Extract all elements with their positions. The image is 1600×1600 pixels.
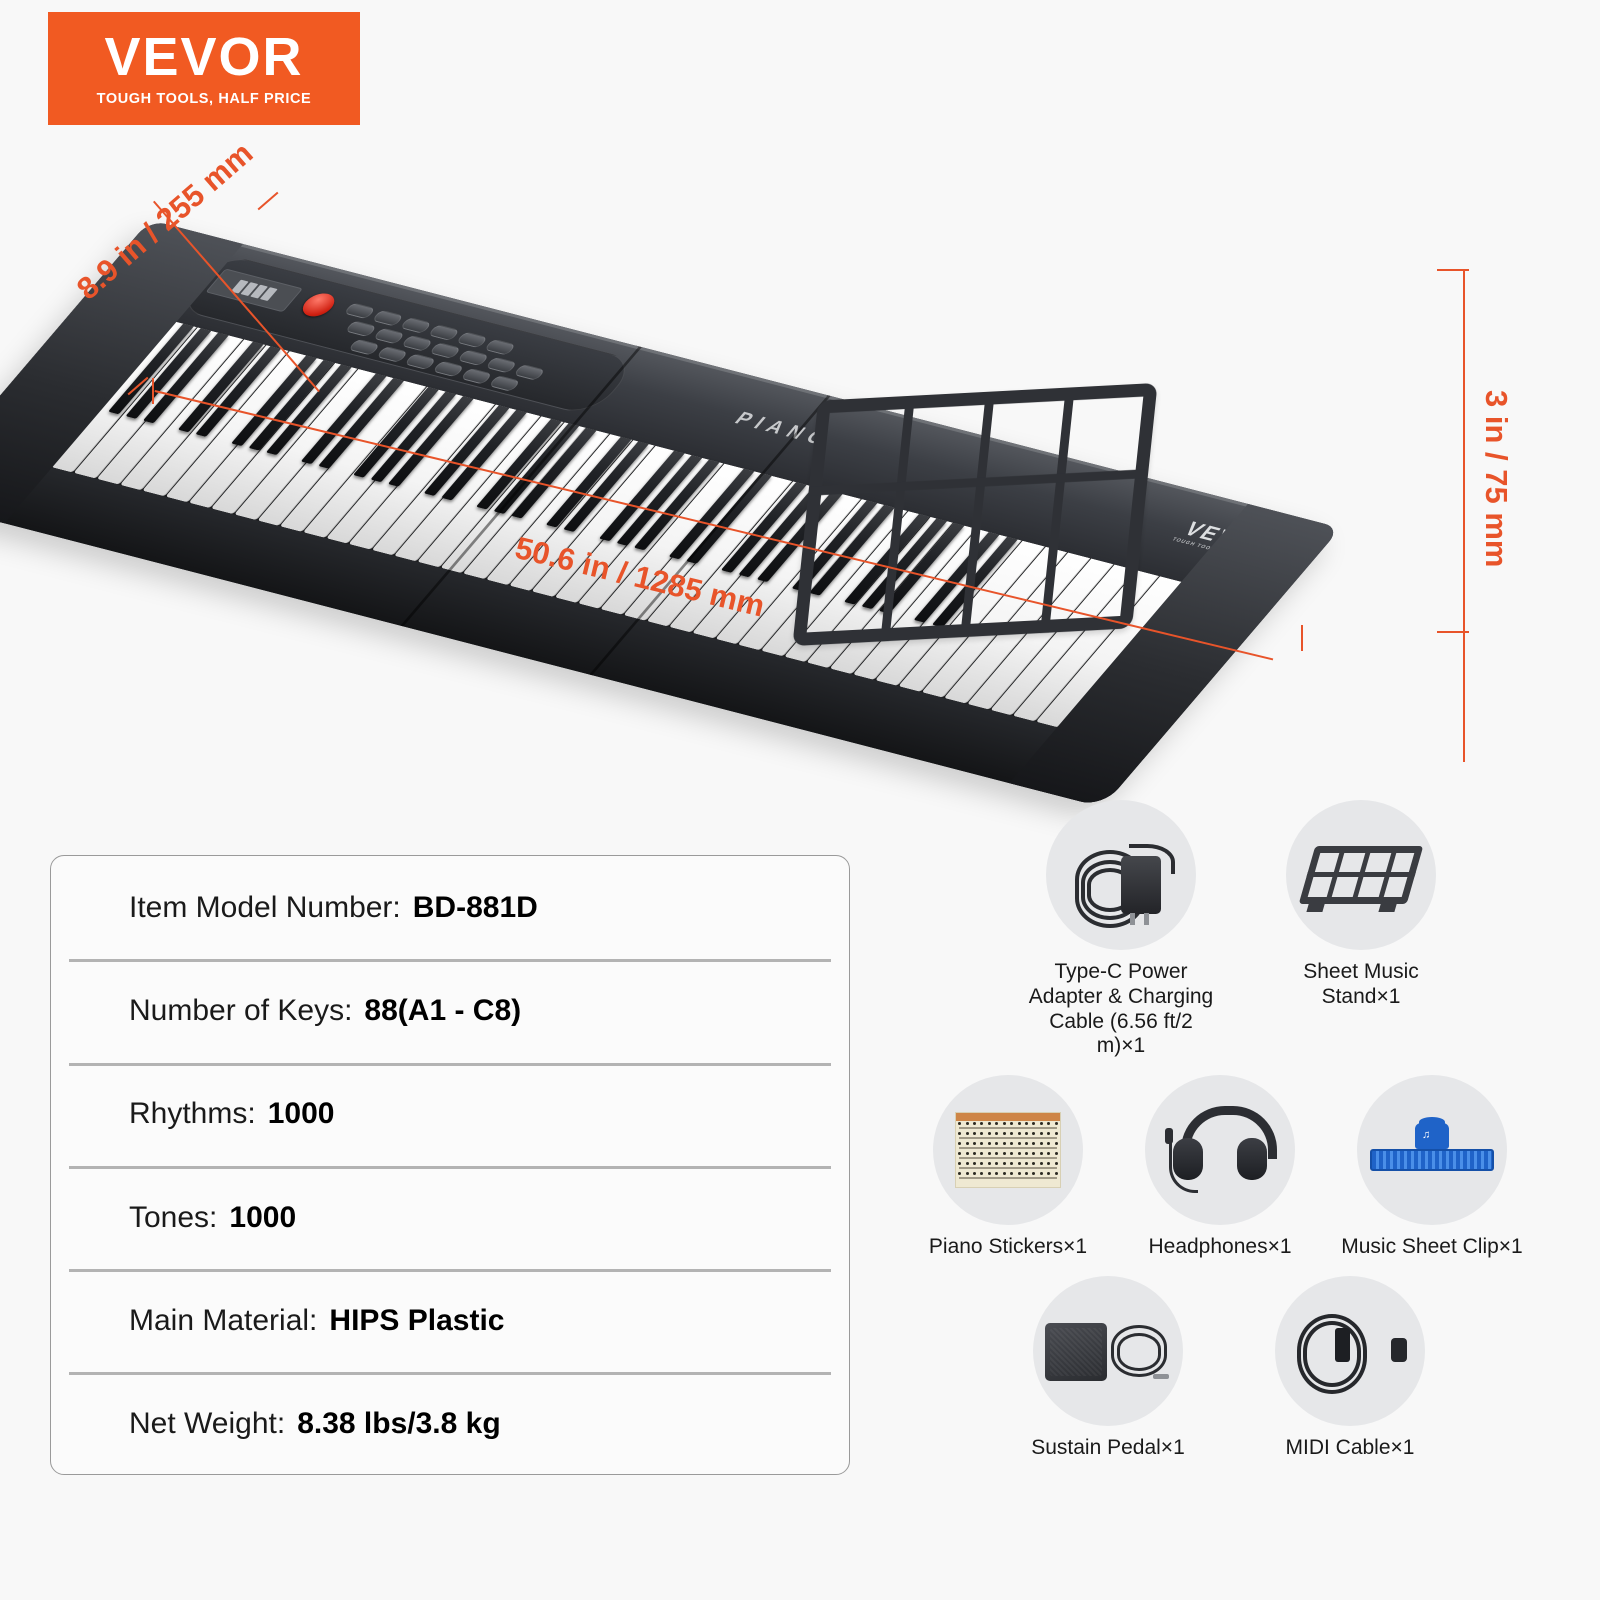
sticker-notes — [956, 1162, 1060, 1172]
piano-stickers-icon — [933, 1075, 1083, 1225]
accessory-row-3: Sustain Pedal×1 MIDI Cable×1 — [918, 1276, 1540, 1461]
brand-tagline: TOUGH TOOLS, HALF PRICE — [97, 91, 312, 107]
accessory-label: Type-C Power Adapter & Charging Cable (6… — [1026, 960, 1216, 1059]
accessory-label: MIDI Cable×1 — [1286, 1436, 1415, 1461]
spec-label: Main Material: — [129, 1304, 317, 1338]
midi-cable-icon — [1275, 1276, 1425, 1426]
spec-label: Number of Keys: — [129, 994, 352, 1028]
vevor-logo: VEVOR TOUGH TOOLS, HALF PRICE — [48, 12, 360, 125]
music-sheet-clip-icon: ♫ — [1357, 1075, 1507, 1225]
brand-name: VEVOR — [104, 30, 303, 84]
spec-label: Tones: — [129, 1201, 217, 1235]
accessory-midi-cable: MIDI Cable×1 — [1255, 1276, 1445, 1461]
spec-row-tones: Tones: 1000 — [51, 1166, 849, 1269]
accessory-label: Sheet Music Stand×1 — [1266, 960, 1456, 1010]
spec-value: 8.38 lbs/3.8 kg — [297, 1407, 500, 1441]
power-button-icon — [297, 291, 341, 320]
spec-row-weight: Net Weight: 8.38 lbs/3.8 kg — [51, 1372, 849, 1475]
accessories-panel: Type-C Power Adapter & Charging Cable (6… — [900, 800, 1540, 1540]
sticker-notes — [956, 1142, 1060, 1152]
spec-value: BD-881D — [413, 891, 538, 925]
accessory-label: Music Sheet Clip×1 — [1341, 1235, 1523, 1260]
spec-label: Item Model Number: — [129, 891, 401, 925]
accessory-headphones: Headphones×1 — [1125, 1075, 1315, 1260]
spec-row-rhythms: Rhythms: 1000 — [51, 1063, 849, 1166]
specifications-panel: Item Model Number: BD-881D Number of Key… — [50, 855, 850, 1475]
spec-value: 1000 — [229, 1201, 296, 1235]
sticker-notes — [956, 1122, 1060, 1132]
sticker-notes — [956, 1152, 1060, 1162]
product-hero: PIANO VEVOR TOUGH TOOLS, HALF PRICE — [0, 130, 1600, 830]
accessory-label: Piano Stickers×1 — [929, 1235, 1087, 1260]
spec-value: HIPS Plastic — [329, 1304, 504, 1338]
sticker-notes — [956, 1132, 1060, 1142]
accessory-label: Headphones×1 — [1148, 1235, 1291, 1260]
power-adapter-icon — [1046, 800, 1196, 950]
accessory-sheet-music-stand: Sheet Music Stand×1 — [1266, 800, 1456, 1059]
sticker-notes — [956, 1172, 1060, 1182]
sustain-pedal-icon — [1033, 1276, 1183, 1426]
spec-row-model: Item Model Number: BD-881D — [51, 856, 849, 959]
sheet-music-stand-icon — [1286, 800, 1436, 950]
accessory-sustain-pedal: Sustain Pedal×1 — [1013, 1276, 1203, 1461]
spec-row-keys: Number of Keys: 88(A1 - C8) — [51, 959, 849, 1062]
sheet-music-stand — [792, 383, 1157, 646]
accessory-row-1: Type-C Power Adapter & Charging Cable (6… — [942, 800, 1540, 1059]
accessory-label: Sustain Pedal×1 — [1031, 1436, 1185, 1461]
accessory-music-sheet-clip: ♫ Music Sheet Clip×1 — [1337, 1075, 1527, 1260]
spec-value: 1000 — [268, 1097, 335, 1131]
accessory-piano-stickers: Piano Stickers×1 — [913, 1075, 1103, 1260]
spec-value: 88(A1 - C8) — [364, 994, 521, 1028]
lcd-display-icon — [205, 268, 303, 312]
digital-piano-illustration: PIANO VEVOR TOUGH TOOLS, HALF PRICE — [150, 220, 1410, 840]
accessory-power-adapter: Type-C Power Adapter & Charging Cable (6… — [1026, 800, 1216, 1059]
headphones-icon — [1145, 1075, 1295, 1225]
spec-label: Net Weight: — [129, 1407, 285, 1441]
dimension-height-label: 3 in / 75 mm — [1478, 390, 1514, 567]
spec-label: Rhythms: — [129, 1097, 256, 1131]
spec-row-material: Main Material: HIPS Plastic — [51, 1269, 849, 1372]
accessory-row-2: Piano Stickers×1 Headphones×1 ♫ — [900, 1075, 1540, 1260]
